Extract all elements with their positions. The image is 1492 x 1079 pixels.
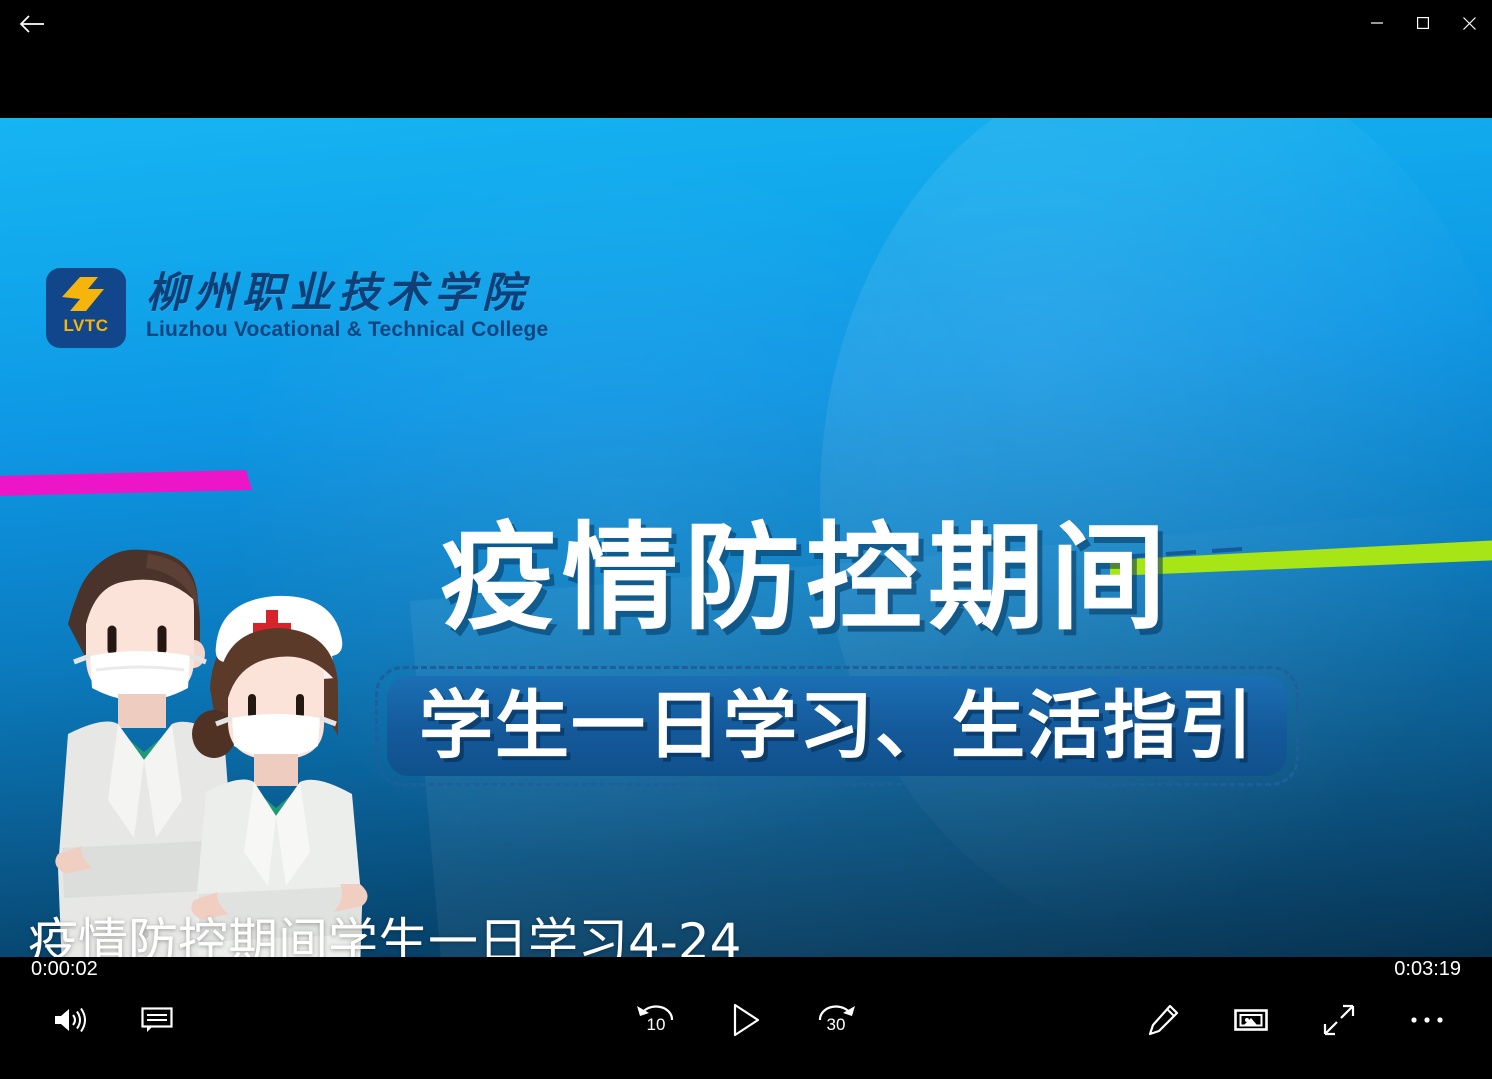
captions-icon <box>141 1006 173 1034</box>
rewind-10-label: 10 <box>627 990 685 1050</box>
magenta-ribbon <box>0 464 296 504</box>
video-surface[interactable]: LVTC 柳州职业技术学院 Liuzhou Vocational & Techn… <box>0 118 1492 957</box>
more-options-button[interactable] <box>1398 990 1456 1050</box>
edit-button[interactable] <box>1134 990 1192 1050</box>
back-arrow-icon <box>19 14 45 34</box>
close-icon <box>1463 17 1476 30</box>
logo-english-name: Liuzhou Vocational & Technical College <box>146 318 548 342</box>
subtitle-panel: 学生一日学习、生活指引 <box>387 676 1287 776</box>
college-logo: LVTC 柳州职业技术学院 Liuzhou Vocational & Techn… <box>46 268 548 348</box>
current-time-label: 0:00:02 <box>31 957 98 981</box>
rewind-10-button[interactable]: 10 <box>627 990 685 1050</box>
forward-30-label: 30 <box>807 990 865 1050</box>
lvtc-mark-icon <box>58 275 114 315</box>
mini-player-button[interactable] <box>1222 990 1280 1050</box>
more-icon <box>1410 1015 1444 1025</box>
fullscreen-icon <box>1323 1004 1355 1036</box>
control-group-left <box>40 990 186 1050</box>
logo-chinese-name: 柳州职业技术学院 <box>146 270 548 316</box>
slide-subtitle: 学生一日学习、生活指引 <box>419 687 1255 765</box>
fullscreen-button[interactable] <box>1310 990 1368 1050</box>
control-group-center: 10 30 <box>627 990 865 1050</box>
back-button[interactable] <box>8 0 56 48</box>
maximize-icon <box>1417 17 1429 29</box>
play-icon <box>731 1003 761 1037</box>
logo-badge-text: LVTC <box>63 317 108 334</box>
captions-button[interactable] <box>128 990 186 1050</box>
volume-button[interactable] <box>40 990 98 1050</box>
total-time-label: 0:03:19 <box>1394 957 1461 981</box>
player-control-bar: 10 30 <box>0 990 1492 1079</box>
forward-30-button[interactable]: 30 <box>807 990 865 1050</box>
control-group-right <box>1134 990 1456 1050</box>
minimize-icon <box>1371 17 1383 29</box>
volume-icon <box>52 1005 86 1035</box>
window-controls <box>1354 0 1492 46</box>
play-button[interactable] <box>717 990 775 1050</box>
title-bar <box>0 0 1492 48</box>
minimize-button[interactable] <box>1354 0 1400 46</box>
maximize-button[interactable] <box>1400 0 1446 46</box>
mini-player-icon <box>1234 1007 1268 1033</box>
logo-wordmark: 柳州职业技术学院 Liuzhou Vocational & Technical … <box>146 268 548 342</box>
slide-headline: 疫情防控期间 <box>440 520 1172 638</box>
pencil-icon <box>1147 1004 1179 1036</box>
logo-badge: LVTC <box>46 268 126 348</box>
medical-staff-illustration <box>48 538 378 957</box>
video-title-overlay: 疫情防控期间学生一日学习4-24 <box>28 913 741 957</box>
close-button[interactable] <box>1446 0 1492 46</box>
